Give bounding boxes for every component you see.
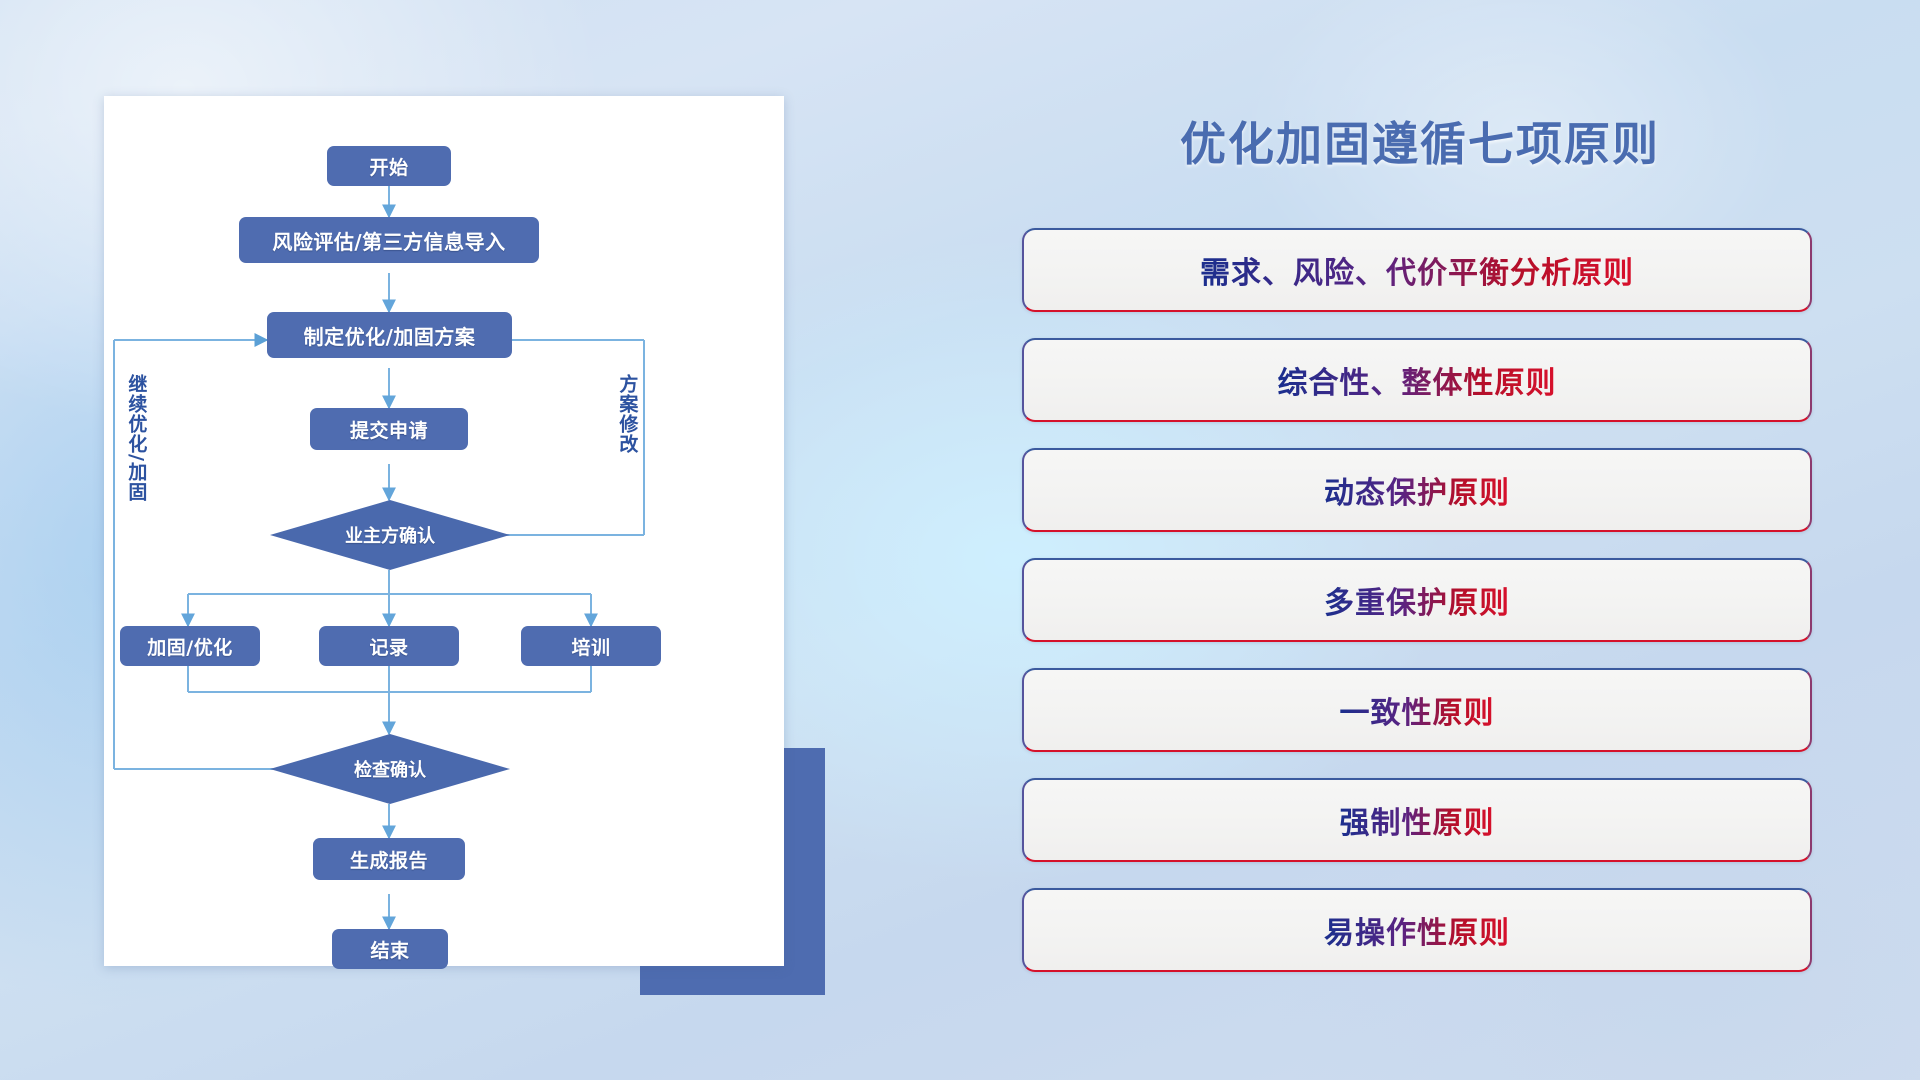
- principle-item-6[interactable]: 强制性原则: [1022, 778, 1812, 862]
- principle-item-1-label: 需求、风险、代价平衡分析原则: [1200, 248, 1634, 292]
- principle-item-2[interactable]: 综合性、整体性原则: [1022, 338, 1812, 422]
- flow-node-start-label: 开始: [369, 153, 408, 180]
- flow-node-make-plan[interactable]: 制定优化/加固方案: [267, 312, 512, 358]
- principle-item-3-label: 动态保护原则: [1324, 468, 1510, 512]
- flow-decision-inspection-confirm-label: 检查确认: [354, 756, 426, 782]
- principle-item-7[interactable]: 易操作性原则: [1022, 888, 1812, 972]
- flow-node-start[interactable]: 开始: [327, 146, 451, 186]
- principle-item-7-label: 易操作性原则: [1324, 908, 1510, 952]
- principle-item-3[interactable]: 动态保护原则: [1022, 448, 1812, 532]
- flow-node-generate-report[interactable]: 生成报告: [313, 838, 465, 880]
- principle-item-2-label: 综合性、整体性原则: [1278, 358, 1557, 402]
- flow-decision-inspection-confirm[interactable]: 检查确认: [270, 734, 510, 804]
- flow-node-end-label: 结束: [370, 936, 409, 963]
- flow-edge-label-continue-optimize: 继续优化/加固: [126, 374, 145, 534]
- flow-node-risk-assessment-label: 风险评估/第三方信息导入: [272, 226, 505, 255]
- page-title: 优化加固遵循七项原则: [1020, 108, 1820, 174]
- flow-node-training[interactable]: 培训: [521, 626, 661, 666]
- flow-node-reinforce-optimize[interactable]: 加固/优化: [120, 626, 260, 666]
- slide-canvas: 开始 风险评估/第三方信息导入 制定优化/加固方案 提交申请 业主方确认 加固/…: [0, 0, 1920, 1080]
- flow-node-record-label: 记录: [369, 633, 408, 660]
- flow-node-risk-assessment[interactable]: 风险评估/第三方信息导入: [239, 217, 539, 263]
- flow-node-record[interactable]: 记录: [319, 626, 459, 666]
- principle-item-1[interactable]: 需求、风险、代价平衡分析原则: [1022, 228, 1812, 312]
- flow-node-end[interactable]: 结束: [332, 929, 448, 969]
- flow-node-generate-report-label: 生成报告: [350, 846, 428, 873]
- principle-item-4-label: 多重保护原则: [1324, 578, 1510, 622]
- flow-node-training-label: 培训: [571, 633, 610, 660]
- flow-node-submit-application[interactable]: 提交申请: [310, 408, 468, 450]
- principle-list: 需求、风险、代价平衡分析原则 综合性、整体性原则 动态保护原则 多重保护原则 一…: [1022, 228, 1812, 998]
- flow-decision-owner-confirm[interactable]: 业主方确认: [270, 500, 510, 570]
- flow-node-submit-application-label: 提交申请: [350, 416, 428, 443]
- flow-node-make-plan-label: 制定优化/加固方案: [304, 321, 476, 350]
- principle-item-6-label: 强制性原则: [1340, 798, 1495, 842]
- flow-edge-label-plan-revision: 方案修改: [617, 374, 636, 494]
- flowchart-card: 开始 风险评估/第三方信息导入 制定优化/加固方案 提交申请 业主方确认 加固/…: [104, 96, 784, 966]
- flow-decision-owner-confirm-label: 业主方确认: [345, 522, 435, 548]
- principle-item-5[interactable]: 一致性原则: [1022, 668, 1812, 752]
- principle-item-4[interactable]: 多重保护原则: [1022, 558, 1812, 642]
- principle-item-5-label: 一致性原则: [1340, 688, 1495, 732]
- flow-node-reinforce-optimize-label: 加固/优化: [147, 633, 232, 660]
